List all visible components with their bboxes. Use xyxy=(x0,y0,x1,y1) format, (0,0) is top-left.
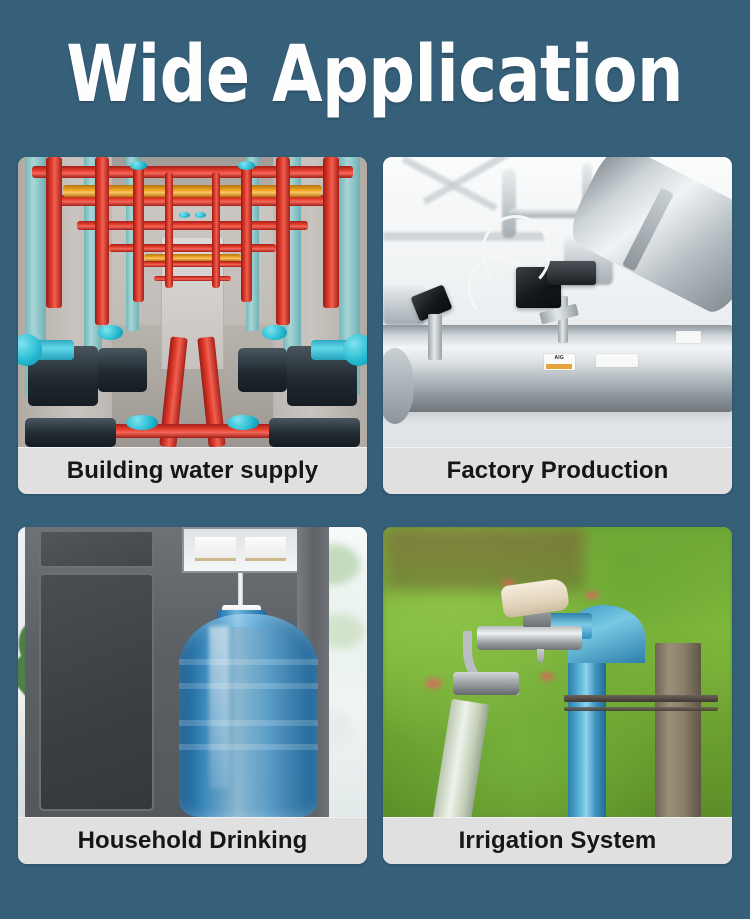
pipe-label: AIG xyxy=(544,354,575,370)
card-caption: Factory Production xyxy=(383,447,732,494)
application-card-grid: Building water supply xyxy=(18,157,732,864)
household-drinking-photo xyxy=(18,527,367,817)
card-caption-text: Factory Production xyxy=(447,457,669,485)
application-card[interactable]: Household Drinking xyxy=(18,527,367,864)
banner-header: Wide Application xyxy=(0,0,750,150)
application-card[interactable]: AIG Factory Production xyxy=(383,157,732,494)
irrigation-system-photo xyxy=(383,527,732,817)
page-title: Wide Application xyxy=(67,36,684,114)
card-caption: Irrigation System xyxy=(383,817,732,864)
card-caption-text: Building water supply xyxy=(67,457,318,485)
wide-application-banner: Wide Application xyxy=(0,0,750,919)
card-caption: Household Drinking xyxy=(18,817,367,864)
pipe-label-text: AIG xyxy=(544,355,575,361)
application-card[interactable]: Irrigation System xyxy=(383,527,732,864)
card-caption: Building water supply xyxy=(18,447,367,494)
application-card[interactable]: Building water supply xyxy=(18,157,367,494)
building-water-supply-photo xyxy=(18,157,367,447)
factory-production-photo: AIG xyxy=(383,157,732,447)
card-caption-text: Irrigation System xyxy=(459,827,657,855)
card-caption-text: Household Drinking xyxy=(78,827,308,855)
